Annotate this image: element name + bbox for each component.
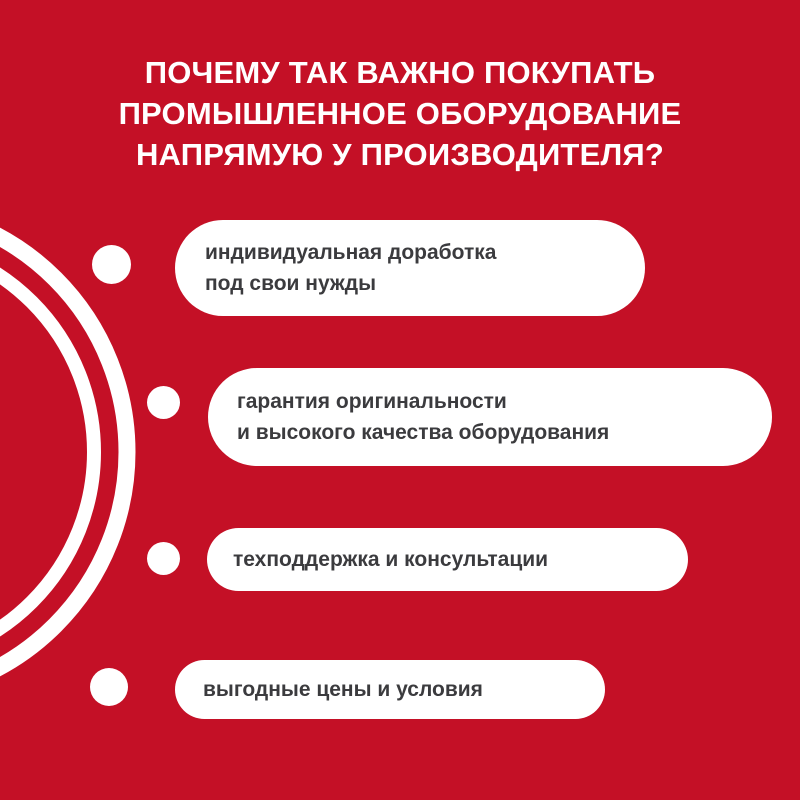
benefit-pill-3-line-1: техподдержка и консультации bbox=[233, 544, 548, 575]
benefit-pill-2-line-2: и высокого качества оборудования bbox=[237, 417, 609, 448]
benefit-pill-2-text: гарантия оригинальности и высокого качес… bbox=[237, 386, 609, 448]
benefit-pill-4-text: выгодные цены и условия bbox=[203, 674, 483, 705]
bullet-dot-icon bbox=[147, 386, 180, 419]
benefit-pill-1-text: индивидуальная доработка под свои нужды bbox=[205, 237, 496, 299]
page-title-line-1: ПОЧЕМУ ТАК ВАЖНО ПОКУПАТЬ bbox=[0, 52, 800, 93]
benefit-pill-1-line-2: под свои нужды bbox=[205, 268, 496, 299]
benefit-pill-4-line-1: выгодные цены и условия bbox=[203, 674, 483, 705]
benefit-pill-3-text: техподдержка и консультации bbox=[233, 544, 548, 575]
poster-canvas: ПОЧЕМУ ТАК ВАЖНО ПОКУПАТЬ ПРОМЫШЛЕННОЕ О… bbox=[0, 0, 800, 800]
page-title-line-3: НАПРЯМУЮ У ПРОИЗВОДИТЕЛЯ? bbox=[0, 134, 800, 175]
bullet-dot-icon bbox=[92, 245, 131, 284]
bullet-dot-icon bbox=[90, 668, 128, 706]
page-title-line-2: ПРОМЫШЛЕННОЕ ОБОРУДОВАНИЕ bbox=[0, 93, 800, 134]
benefit-pill-3[interactable]: техподдержка и консультации bbox=[207, 528, 688, 591]
benefit-pill-1-line-1: индивидуальная доработка bbox=[205, 237, 496, 268]
benefit-pill-2-line-1: гарантия оригинальности bbox=[237, 386, 609, 417]
bullet-dot-icon bbox=[147, 542, 180, 575]
benefit-pill-4[interactable]: выгодные цены и условия bbox=[175, 660, 605, 719]
inner-arc-icon bbox=[0, 240, 94, 664]
benefit-pill-1[interactable]: индивидуальная доработка под свои нужды bbox=[175, 220, 645, 316]
benefit-pill-2[interactable]: гарантия оригинальности и высокого качес… bbox=[208, 368, 772, 466]
page-title: ПОЧЕМУ ТАК ВАЖНО ПОКУПАТЬ ПРОМЫШЛЕННОЕ О… bbox=[0, 52, 800, 175]
